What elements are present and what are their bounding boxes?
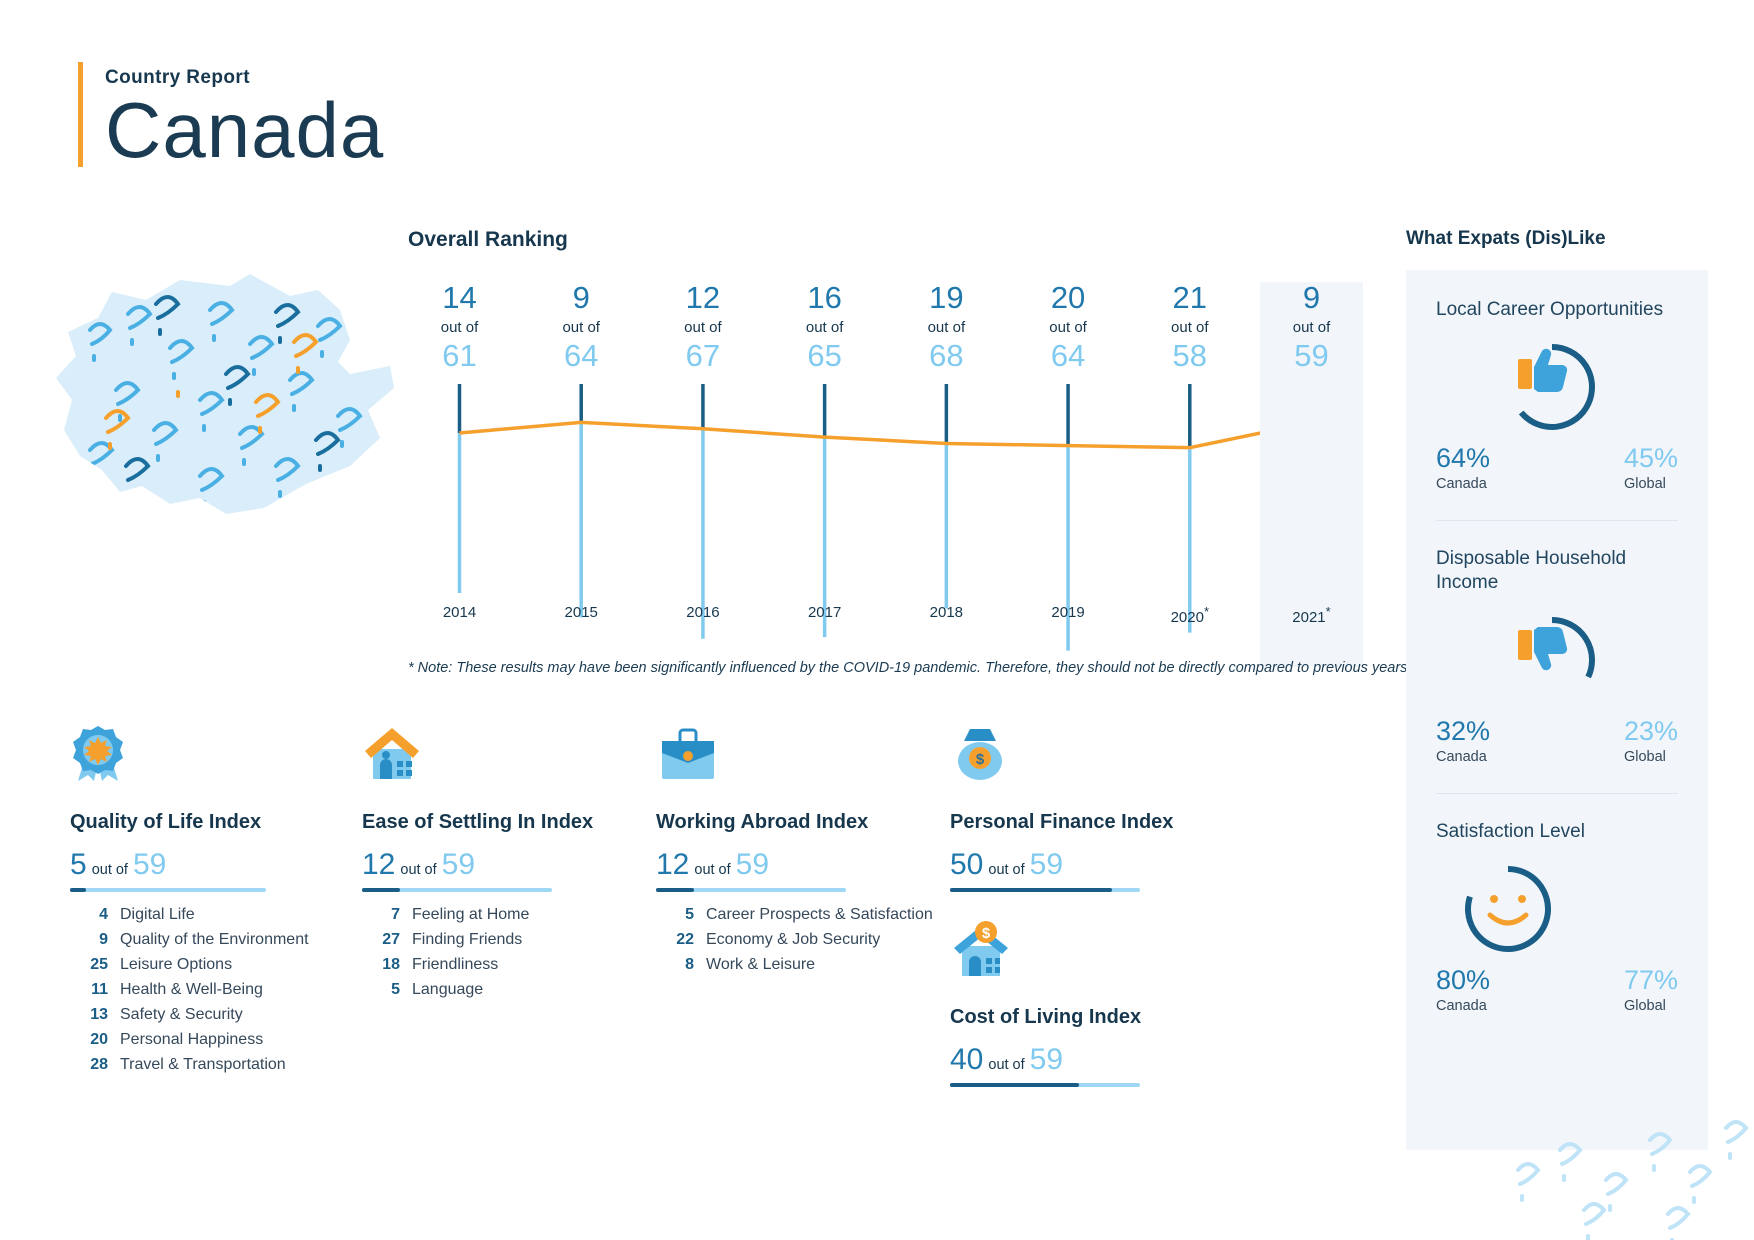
index-progress-fill	[70, 888, 86, 892]
card-stats: 32%Canada23%Global	[1436, 716, 1678, 765]
svg-text:$: $	[976, 751, 985, 768]
card-divider	[1436, 520, 1678, 521]
x-axis-year-label: 2017	[773, 604, 876, 621]
rank-outof-label: out of	[562, 319, 600, 336]
rank-value: 16	[807, 282, 841, 313]
rank-total: 58	[1173, 340, 1207, 371]
local-label: Canada	[1436, 476, 1490, 492]
index-rank: 50	[950, 848, 983, 882]
overall-ranking-section: Overall Ranking 14out of619out of6412out…	[408, 228, 1368, 667]
year-asterisk: *	[1326, 604, 1331, 619]
rank-total: 61	[442, 340, 476, 371]
index-total: 59	[736, 848, 769, 882]
rank-value: 9	[573, 282, 590, 313]
local-percent: 64%	[1436, 443, 1490, 474]
sidebar-panel: Local Career Opportunities 64%Canada45%G…	[1406, 270, 1708, 1150]
subindex-label: Economy & Job Security	[706, 931, 880, 949]
rank-value: 20	[1051, 282, 1085, 313]
expat-metric-card: Local Career Opportunities 64%Canada45%G…	[1436, 298, 1678, 492]
global-stat: 23%Global	[1624, 716, 1678, 765]
local-stat: 32%Canada	[1436, 716, 1490, 765]
house-icon	[362, 725, 652, 783]
subindex-row: 8Work & Leisure	[656, 956, 946, 974]
index-block: Ease of Settling In Index12out of597Feel…	[362, 725, 652, 1006]
index-outof-label: out of	[988, 1057, 1024, 1073]
index-block: Working Abroad Index12out of595Career Pr…	[656, 725, 946, 981]
subindex-rank: 11	[70, 981, 108, 999]
rank-total: 64	[1051, 340, 1085, 371]
expat-metric-card: Satisfaction Level 80%Canada77%Global	[1436, 820, 1678, 1014]
subindex-list: 4Digital Life9Quality of the Environment…	[70, 906, 360, 1074]
subindex-row: 28Travel & Transportation	[70, 1056, 360, 1074]
subindex-row: 5Language	[362, 981, 652, 999]
subindex-list: 7Feeling at Home27Finding Friends18Frien…	[362, 906, 652, 999]
subindex-rank: 13	[70, 1006, 108, 1024]
thumbs-down-icon	[1518, 627, 1567, 670]
briefcase-icon	[656, 725, 720, 783]
card-stats: 64%Canada45%Global	[1436, 443, 1678, 492]
subindex-row: 7Feeling at Home	[362, 906, 652, 924]
index-score: 12out of59	[362, 848, 652, 882]
country-report-page: Country Report Canada	[0, 0, 1754, 1240]
index-title: Personal Finance Index	[950, 811, 1240, 834]
index-total: 59	[133, 848, 166, 882]
rank-value: 9	[1303, 282, 1320, 313]
index-score: 40out of59	[950, 1043, 1240, 1077]
subindex-label: Health & Well-Being	[120, 981, 263, 999]
subindex-label: Finding Friends	[412, 931, 522, 949]
global-stat: 45%Global	[1624, 443, 1678, 492]
subindex-label: Safety & Security	[120, 1006, 243, 1024]
rank-value: 14	[442, 282, 476, 313]
index-block: $ Cost of Living Index40out of59	[950, 920, 1240, 1101]
card-divider	[1436, 793, 1678, 794]
local-label: Canada	[1436, 998, 1490, 1014]
index-outof-label: out of	[92, 862, 128, 878]
index-outof-label: out of	[400, 862, 436, 878]
index-total: 59	[442, 848, 475, 882]
global-percent: 23%	[1624, 716, 1678, 747]
subindex-label: Personal Happiness	[120, 1031, 263, 1049]
house-dollar-icon: $	[950, 920, 1012, 978]
index-block: $ Personal Finance Index50out of59	[950, 725, 1240, 906]
subindex-rank: 9	[70, 931, 108, 949]
rank-outof-label: out of	[806, 319, 844, 336]
report-header: Country Report Canada	[78, 62, 384, 171]
rank-total: 67	[686, 340, 720, 371]
subindex-row: 25Leisure Options	[70, 956, 360, 974]
rosette-badge-icon	[70, 725, 360, 783]
x-axis-year-label: 2018	[895, 604, 998, 621]
index-title: Working Abroad Index	[656, 811, 946, 834]
expat-metric-card: Disposable Household Income 32%Canada23%…	[1436, 547, 1678, 765]
subindex-row: 20Personal Happiness	[70, 1031, 360, 1049]
rank-outof-label: out of	[1049, 319, 1087, 336]
thumbs-up-icon	[1518, 348, 1567, 391]
x-axis-year-label: 2020*	[1138, 604, 1241, 626]
rank-total: 68	[929, 340, 963, 371]
index-progress-bar	[656, 888, 846, 892]
gauge-area	[1436, 331, 1678, 443]
index-rank: 40	[950, 1043, 983, 1077]
subindex-label: Digital Life	[120, 906, 195, 924]
subindex-row: 13Safety & Security	[70, 1006, 360, 1024]
index-total: 59	[1030, 1043, 1063, 1077]
index-title: Cost of Living Index	[950, 1006, 1240, 1029]
index-outof-label: out of	[988, 862, 1024, 878]
gauge-chart	[1436, 853, 1646, 965]
index-rank: 5	[70, 848, 87, 882]
canada-map-icon	[50, 270, 400, 520]
subindex-rank: 25	[70, 956, 108, 974]
rank-value: 12	[686, 282, 720, 313]
chart-title: Overall Ranking	[408, 228, 1368, 252]
index-outof-label: out of	[694, 862, 730, 878]
card-title: Satisfaction Level	[1436, 820, 1678, 845]
index-progress-fill	[362, 888, 400, 892]
subindex-row: 18Friendliness	[362, 956, 652, 974]
index-total: 59	[1030, 848, 1063, 882]
global-percent: 45%	[1624, 443, 1678, 474]
index-progress-bar	[950, 1083, 1140, 1087]
subindex-rank: 5	[362, 981, 400, 999]
subindex-label: Career Prospects & Satisfaction	[706, 906, 933, 924]
local-percent: 80%	[1436, 965, 1490, 996]
decorative-question-marks	[1490, 1110, 1754, 1240]
house-icon	[362, 725, 422, 783]
rank-outof-label: out of	[928, 319, 966, 336]
subindex-rank: 8	[656, 956, 694, 974]
local-percent: 32%	[1436, 716, 1490, 747]
subindex-rank: 22	[656, 931, 694, 949]
subindex-rank: 7	[362, 906, 400, 924]
card-stats: 80%Canada77%Global	[1436, 965, 1678, 1014]
rank-total: 59	[1294, 340, 1328, 371]
x-axis-year-label: 2021*	[1260, 604, 1363, 626]
index-rank: 12	[362, 848, 395, 882]
page-title: Canada	[105, 91, 384, 171]
subindex-row: 5Career Prospects & Satisfaction	[656, 906, 946, 924]
subindex-label: Feeling at Home	[412, 906, 529, 924]
subindex-rank: 20	[70, 1031, 108, 1049]
svg-text:$: $	[982, 925, 991, 942]
canada-map-svg	[50, 270, 400, 520]
local-label: Canada	[1436, 749, 1490, 765]
gauge-arc-local	[1468, 869, 1548, 949]
global-label: Global	[1624, 998, 1678, 1014]
rank-value: 21	[1173, 282, 1207, 313]
subindex-row: 27Finding Friends	[362, 931, 652, 949]
index-progress-fill	[950, 1083, 1079, 1087]
sidebar-title: What Expats (Dis)Like	[1406, 228, 1708, 250]
index-progress-bar	[70, 888, 266, 892]
subindex-rank: 27	[362, 931, 400, 949]
rank-outof-label: out of	[1293, 319, 1331, 336]
expats-sidebar: What Expats (Dis)Like Local Career Oppor…	[1406, 228, 1708, 1150]
index-score: 5out of59	[70, 848, 360, 882]
card-title: Disposable Household Income	[1436, 547, 1678, 596]
subindex-rank: 18	[362, 956, 400, 974]
index-progress-bar	[362, 888, 552, 892]
subindex-label: Travel & Transportation	[120, 1056, 286, 1074]
index-score: 12out of59	[656, 848, 946, 882]
global-stat: 77%Global	[1624, 965, 1678, 1014]
rosette-badge-icon	[70, 725, 126, 783]
subindex-label: Quality of the Environment	[120, 931, 309, 949]
x-axis-year-label: 2019	[1017, 604, 1120, 621]
index-progress-bar	[950, 888, 1140, 892]
index-score: 50out of59	[950, 848, 1240, 882]
local-stat: 80%Canada	[1436, 965, 1490, 1014]
subindex-row: 11Health & Well-Being	[70, 981, 360, 999]
gauge-chart	[1436, 604, 1646, 716]
rank-outof-label: out of	[684, 319, 722, 336]
header-accent-bar	[78, 62, 83, 167]
index-block: Quality of Life Index5out of594Digital L…	[70, 725, 360, 1081]
global-label: Global	[1624, 476, 1678, 492]
x-axis-year-label: 2016	[651, 604, 754, 621]
year-asterisk: *	[1204, 604, 1209, 619]
x-axis-year-label: 2015	[530, 604, 633, 621]
x-axis-year-label: 2014	[408, 604, 511, 621]
gauge-area	[1436, 853, 1678, 965]
index-title: Quality of Life Index	[70, 811, 360, 834]
rank-total: 64	[564, 340, 598, 371]
gauge-chart	[1436, 331, 1646, 443]
index-title: Ease of Settling In Index	[362, 811, 652, 834]
covid-note: * Note: These results may have been sign…	[408, 660, 1411, 676]
index-progress-fill	[950, 888, 1112, 892]
rank-outof-label: out of	[441, 319, 479, 336]
gauge-area	[1436, 604, 1678, 716]
subindex-label: Friendliness	[412, 956, 498, 974]
subindex-row: 4Digital Life	[70, 906, 360, 924]
subindex-row: 22Economy & Job Security	[656, 931, 946, 949]
overall-ranking-chart: 14out of619out of6412out of6716out of651…	[408, 282, 1363, 667]
subindex-label: Work & Leisure	[706, 956, 815, 974]
rank-value: 19	[929, 282, 963, 313]
subindex-label: Language	[412, 981, 483, 999]
local-stat: 64%Canada	[1436, 443, 1490, 492]
rank-outof-label: out of	[1171, 319, 1209, 336]
subindex-rank: 4	[70, 906, 108, 924]
index-rank: 12	[656, 848, 689, 882]
subindex-list: 5Career Prospects & Satisfaction22Econom…	[656, 906, 946, 974]
global-label: Global	[1624, 749, 1678, 765]
card-title: Local Career Opportunities	[1436, 298, 1678, 323]
house-dollar-icon: $	[950, 920, 1240, 978]
rank-total: 65	[807, 340, 841, 371]
subindex-rank: 28	[70, 1056, 108, 1074]
subindex-label: Leisure Options	[120, 956, 232, 974]
briefcase-icon	[656, 725, 946, 783]
smiley-face-icon	[1490, 895, 1526, 923]
subindex-rank: 5	[656, 906, 694, 924]
subindex-row: 9Quality of the Environment	[70, 931, 360, 949]
money-bag-icon: $	[950, 725, 1010, 783]
index-progress-fill	[656, 888, 694, 892]
money-bag-icon: $	[950, 725, 1240, 783]
global-percent: 77%	[1624, 965, 1678, 996]
